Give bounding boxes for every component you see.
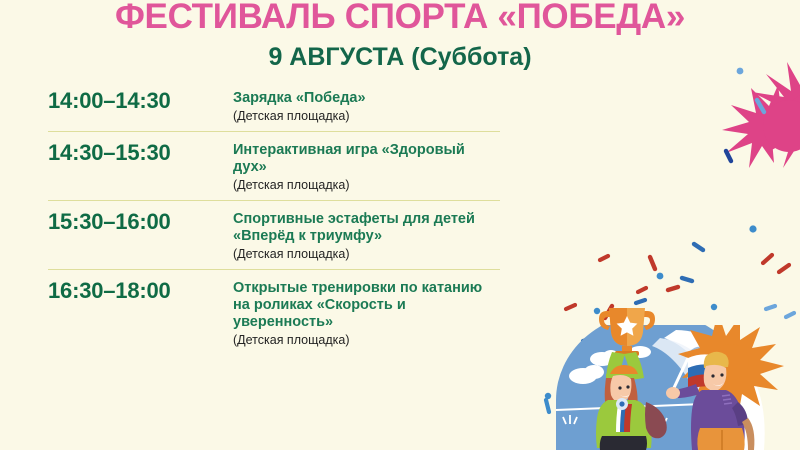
russian-flag-icon — [688, 354, 716, 390]
schedule-time: 15:30–16:00 — [48, 209, 233, 235]
schedule-time: 14:00–14:30 — [48, 88, 233, 114]
boy-arm-left — [674, 384, 700, 398]
confetti-dash — [638, 288, 646, 292]
confetti-dash — [546, 400, 549, 412]
girl-figure — [596, 308, 667, 450]
confetti-dash — [622, 314, 629, 322]
schedule-row: 15:30–16:00 Спортивные эстафеты для дете… — [48, 200, 500, 269]
cloud-swoosh — [664, 330, 765, 450]
boy-arm-right — [732, 402, 748, 426]
boy-pants — [697, 428, 744, 450]
schedule-body: Спортивные эстафеты для детей «Вперёд к … — [233, 209, 500, 262]
confetti-dash — [650, 257, 655, 269]
girl-arm-right — [624, 352, 644, 380]
pink-starburst-icon — [722, 62, 800, 168]
confetti-dash — [757, 100, 764, 112]
schedule-row: 14:00–14:30 Зарядка «Победа» (Детская пл… — [48, 88, 500, 131]
girl-hair — [605, 378, 617, 414]
cloud-outline-icon — [690, 348, 736, 383]
confetti-dot — [545, 393, 551, 399]
ribbon-blue — [620, 404, 628, 432]
girl-shorts — [600, 436, 647, 450]
girl-smile — [619, 394, 630, 397]
page-title: ФЕСТИВАЛЬ СПОРТА «ПОБЕДА» — [0, 0, 800, 33]
grass-icon — [563, 408, 667, 424]
schedule-row: 14:30–15:30 Интерактивная игра «Здоровый… — [48, 131, 500, 200]
schedule-venue: (Детская площадка) — [233, 176, 500, 193]
schedule-title: Зарядка «Победа» — [233, 90, 500, 107]
confetti-dash — [600, 256, 608, 260]
schedule-venue: (Детская площадка) — [233, 245, 500, 262]
schedule-body: Зарядка «Победа» (Детская площадка) — [233, 88, 500, 124]
poster-header: ФЕСТИВАЛЬ СПОРТА «ПОБЕДА» 9 АВГУСТА (Суб… — [0, 0, 800, 71]
schedule-title: Интерактивная игра «Здоровый дух» — [233, 142, 500, 176]
boy-hoodie — [691, 390, 745, 450]
boy-smile — [712, 383, 723, 386]
girl-jacket — [596, 400, 652, 448]
ribbon-red — [624, 404, 632, 432]
boy-eye — [711, 374, 714, 377]
celebration-illustration — [556, 308, 784, 450]
horizon-line — [556, 402, 752, 410]
confetti-dash — [694, 244, 703, 250]
boy-figure — [666, 352, 754, 450]
schedule-venue: (Детская площадка) — [233, 107, 500, 124]
trophy-icon — [599, 308, 655, 356]
schedule-body: Открытые тренировки по катанию на ролика… — [233, 278, 500, 348]
confetti-dash — [566, 305, 575, 309]
orange-sunburst-icon — [678, 312, 784, 416]
confetti-dash — [786, 313, 794, 317]
confetti-dash — [766, 306, 775, 309]
flag-pole — [672, 358, 688, 392]
confetti-dot — [749, 225, 756, 232]
boy-strap — [742, 418, 754, 450]
confetti-dash — [779, 265, 789, 272]
sky-dome — [556, 312, 752, 450]
girl-cape — [645, 402, 667, 438]
girl-cap — [610, 365, 638, 374]
girl-face — [610, 375, 631, 402]
schedule-venue: (Детская площадка) — [233, 331, 500, 348]
confetti-dash — [636, 300, 645, 303]
schedule-time: 16:30–18:00 — [48, 278, 233, 304]
boy-hair — [704, 352, 729, 368]
schedule-row: 16:30–18:00 Открытые тренировки по катан… — [48, 269, 500, 355]
confetti-dash — [605, 306, 612, 318]
girl-eye — [618, 386, 621, 389]
festival-poster: ФЕСТИВАЛЬ СПОРТА «ПОБЕДА» 9 АВГУСТА (Суб… — [0, 0, 800, 450]
confetti-group — [545, 68, 794, 412]
confetti-dash — [763, 255, 772, 263]
medal-rosette — [616, 398, 628, 410]
schedule-body: Интерактивная игра «Здоровый дух» (Детск… — [233, 140, 500, 193]
event-date: 9 АВГУСТА (Суббота) — [0, 33, 800, 71]
hoodie-stripes — [722, 395, 732, 404]
ribbon-white — [616, 404, 624, 432]
boy-eye — [720, 373, 723, 376]
schedule-list: 14:00–14:30 Зарядка «Победа» (Детская пл… — [48, 88, 500, 355]
confetti-dash — [668, 287, 678, 290]
schedule-title: Открытые тренировки по катанию на ролика… — [233, 280, 500, 331]
confetti-dash — [583, 338, 592, 341]
girl-arm-left — [606, 352, 625, 380]
confetti-dot — [594, 308, 600, 314]
confetti-dot — [657, 273, 664, 280]
boy-face — [704, 365, 727, 390]
cloud-icon — [569, 346, 651, 384]
girl-eye — [626, 385, 629, 388]
schedule-title: Спортивные эстафеты для детей «Вперёд к … — [233, 211, 500, 245]
confetti-dash — [726, 151, 731, 161]
boy-hand — [666, 387, 680, 399]
confetti-dash — [682, 278, 692, 281]
cloud-swoosh-shade — [652, 338, 729, 450]
schedule-time: 14:30–15:30 — [48, 140, 233, 166]
confetti-dot — [711, 304, 717, 310]
